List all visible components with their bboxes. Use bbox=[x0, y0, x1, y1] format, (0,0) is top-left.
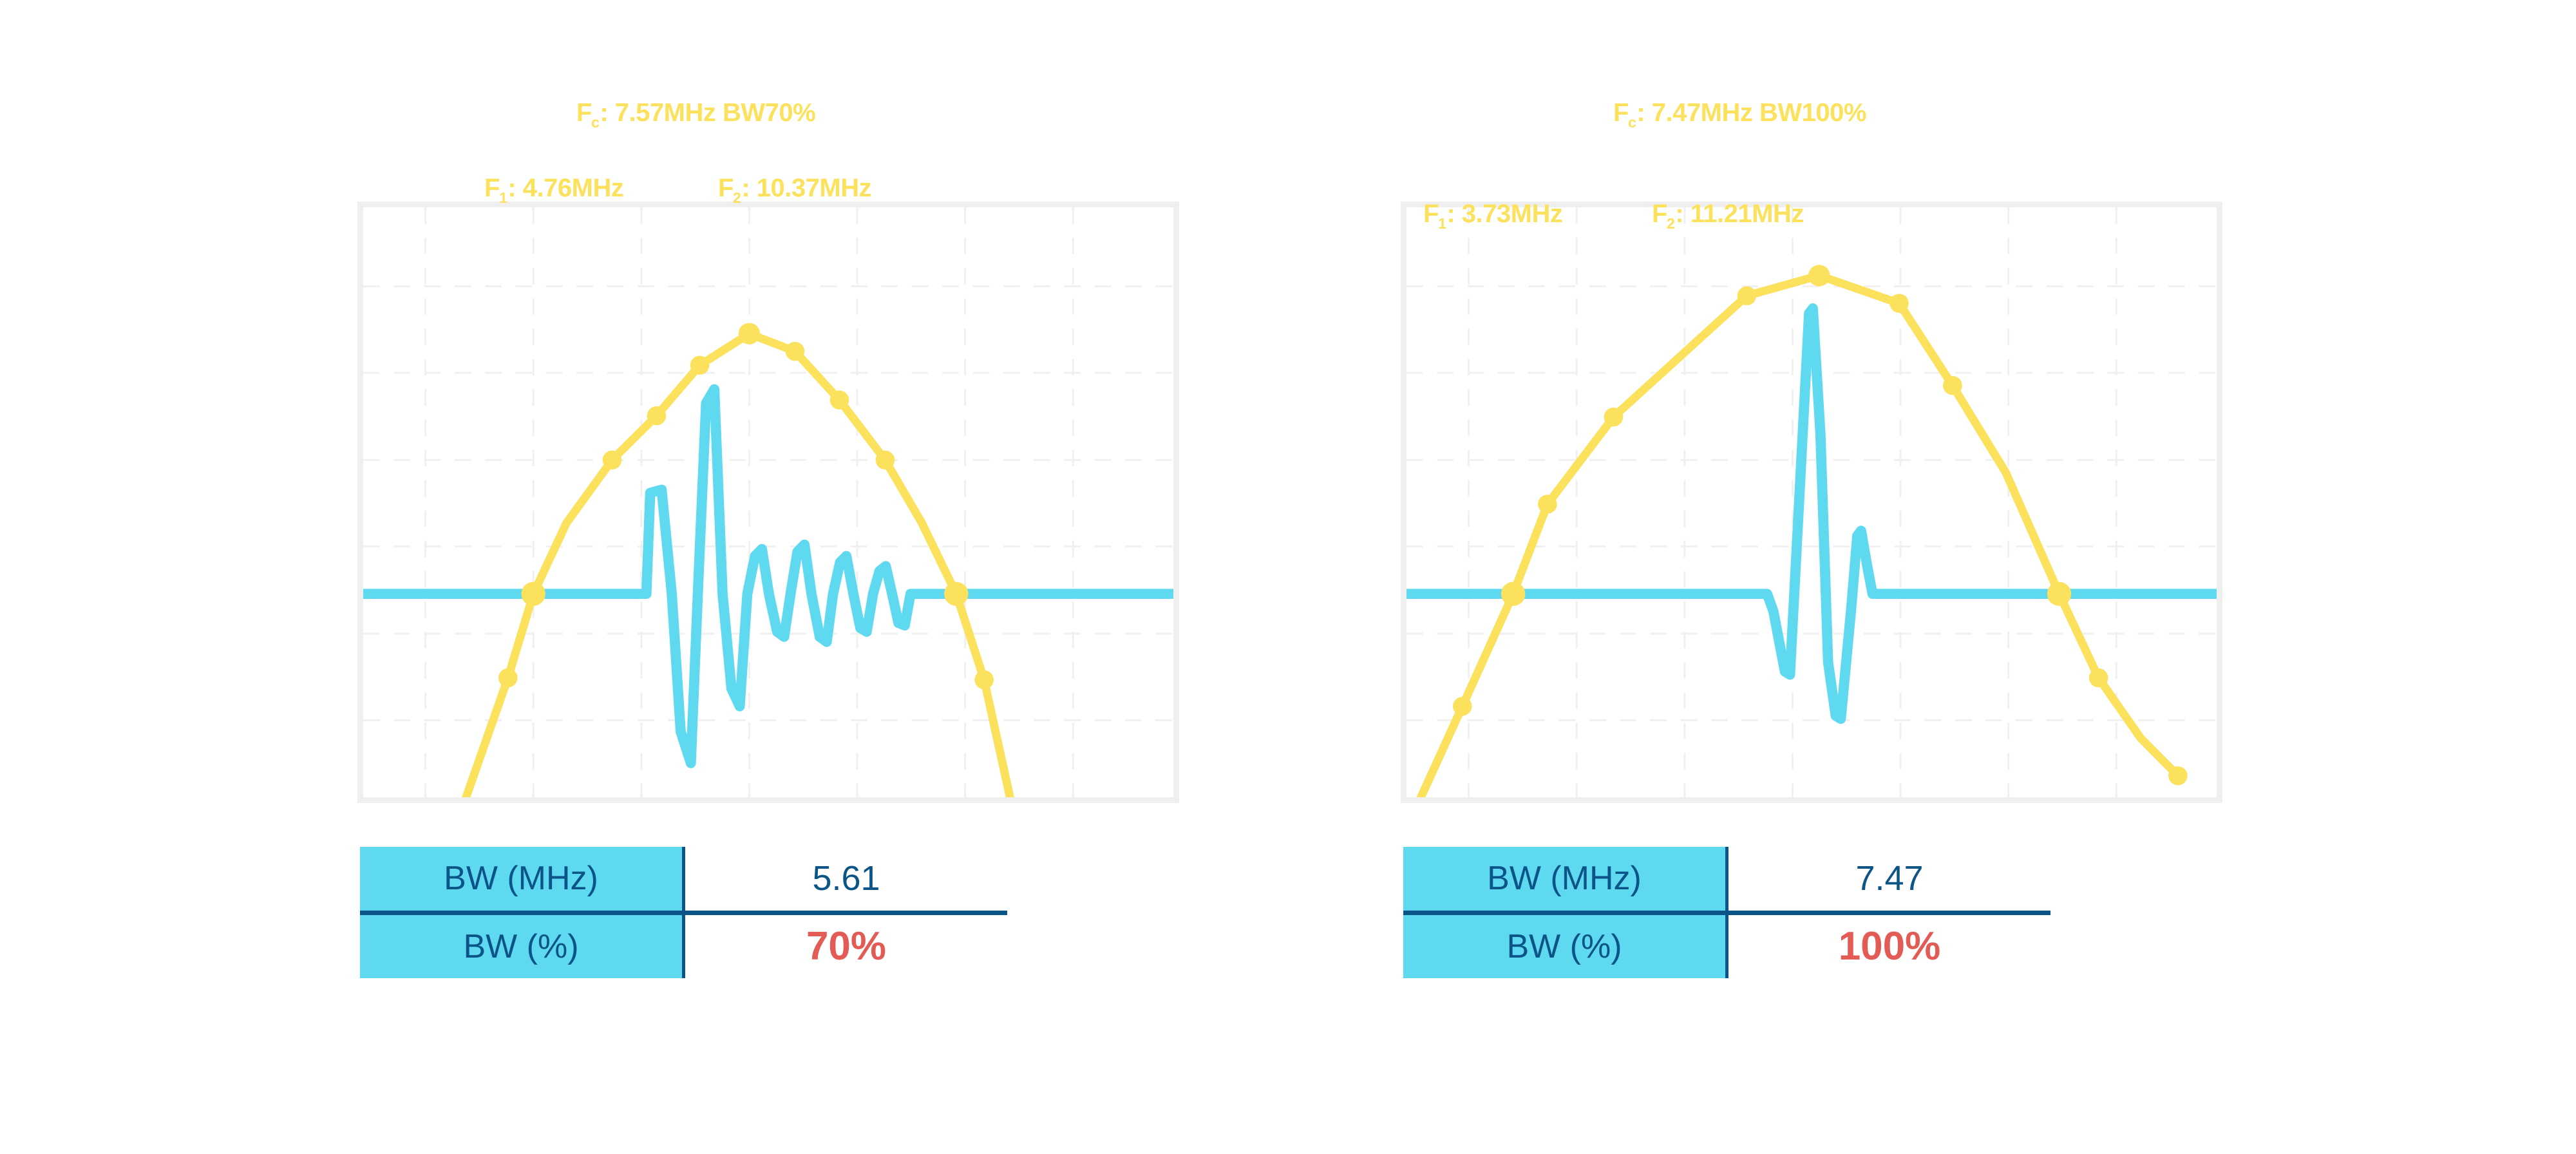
label-lower-cutoff-left: F1: 4.76MHz bbox=[484, 175, 623, 201]
chart-plot-right bbox=[1406, 207, 2217, 797]
label-center-frequency-right: Fc: 7.47MHz BW100% bbox=[1613, 100, 1866, 126]
bandwidth-table-right: BW (MHz) 7.47 BW (%) 100% bbox=[1403, 847, 2050, 978]
pulse-waveform-left bbox=[363, 389, 1173, 763]
f1-text: : 4.76MHz bbox=[507, 174, 623, 202]
f1-text: : 3.73MHz bbox=[1446, 200, 1562, 228]
row-value-bw-mhz: 7.47 bbox=[1727, 847, 2051, 913]
f2-symbol: F bbox=[718, 174, 734, 202]
label-center-frequency-left: Fc: 7.57MHz BW70% bbox=[576, 100, 815, 126]
row-label-bw-percent: BW (%) bbox=[1403, 913, 1727, 978]
fc-symbol: F bbox=[576, 99, 592, 127]
table-row: BW (%) 100% bbox=[1403, 913, 2050, 978]
table-row: BW (MHz) 7.47 bbox=[1403, 847, 2050, 913]
row-value-bw-mhz: 5.61 bbox=[684, 847, 1008, 913]
row-value-bw-percent: 100% bbox=[1727, 913, 2051, 978]
f1-subscript: 1 bbox=[499, 189, 507, 206]
chart-frame-left bbox=[357, 202, 1179, 803]
panel-narrowband: Fc: 7.57MHz BW70% F1: 4.76MHz F2: 10.37M… bbox=[341, 0, 1179, 1154]
label-lower-cutoff-right: F1: 3.73MHz bbox=[1423, 201, 1562, 227]
grid-lines-left bbox=[363, 207, 1173, 797]
grid-lines-right bbox=[1406, 207, 2217, 797]
f2-subscript: 2 bbox=[733, 189, 741, 206]
f2-subscript: 2 bbox=[1667, 215, 1674, 232]
row-value-bw-percent: 70% bbox=[684, 913, 1008, 978]
f1-symbol: F bbox=[484, 174, 500, 202]
label-upper-cutoff-right: F2: 11.21MHz bbox=[1652, 201, 1804, 227]
fc-symbol: F bbox=[1613, 99, 1629, 127]
row-label-bw-mhz: BW (MHz) bbox=[360, 847, 684, 913]
spectrum-curve-left bbox=[465, 334, 1011, 797]
fc-text: : 7.47MHz BW100% bbox=[1636, 99, 1866, 127]
fc-text: : 7.57MHz BW70% bbox=[600, 99, 815, 127]
table-row: BW (MHz) 5.61 bbox=[360, 847, 1007, 913]
f1-symbol: F bbox=[1423, 200, 1439, 228]
f2-text: : 11.21MHz bbox=[1675, 200, 1804, 228]
row-label-bw-percent: BW (%) bbox=[360, 913, 684, 978]
chart-frame-right bbox=[1401, 202, 2222, 803]
f1-subscript: 1 bbox=[1438, 215, 1446, 232]
bandwidth-table-left: BW (MHz) 5.61 BW (%) 70% bbox=[360, 847, 1007, 978]
f2-text: : 10.37MHz bbox=[741, 174, 871, 202]
panel-broadband: Fc: 7.47MHz BW100% F1: 3.73MHz F2: 11.21… bbox=[1385, 0, 2222, 1154]
fc-subscript: c bbox=[1628, 114, 1636, 131]
fc-subscript: c bbox=[591, 114, 599, 131]
pulse-waveform-right bbox=[1406, 308, 2217, 719]
f2-symbol: F bbox=[1652, 200, 1667, 228]
label-upper-cutoff-left: F2: 10.37MHz bbox=[718, 175, 871, 201]
row-label-bw-mhz: BW (MHz) bbox=[1403, 847, 1727, 913]
chart-plot-left bbox=[363, 207, 1173, 797]
figure-canvas: Fc: 7.57MHz BW70% F1: 4.76MHz F2: 10.37M… bbox=[0, 0, 2576, 1154]
table-row: BW (%) 70% bbox=[360, 913, 1007, 978]
